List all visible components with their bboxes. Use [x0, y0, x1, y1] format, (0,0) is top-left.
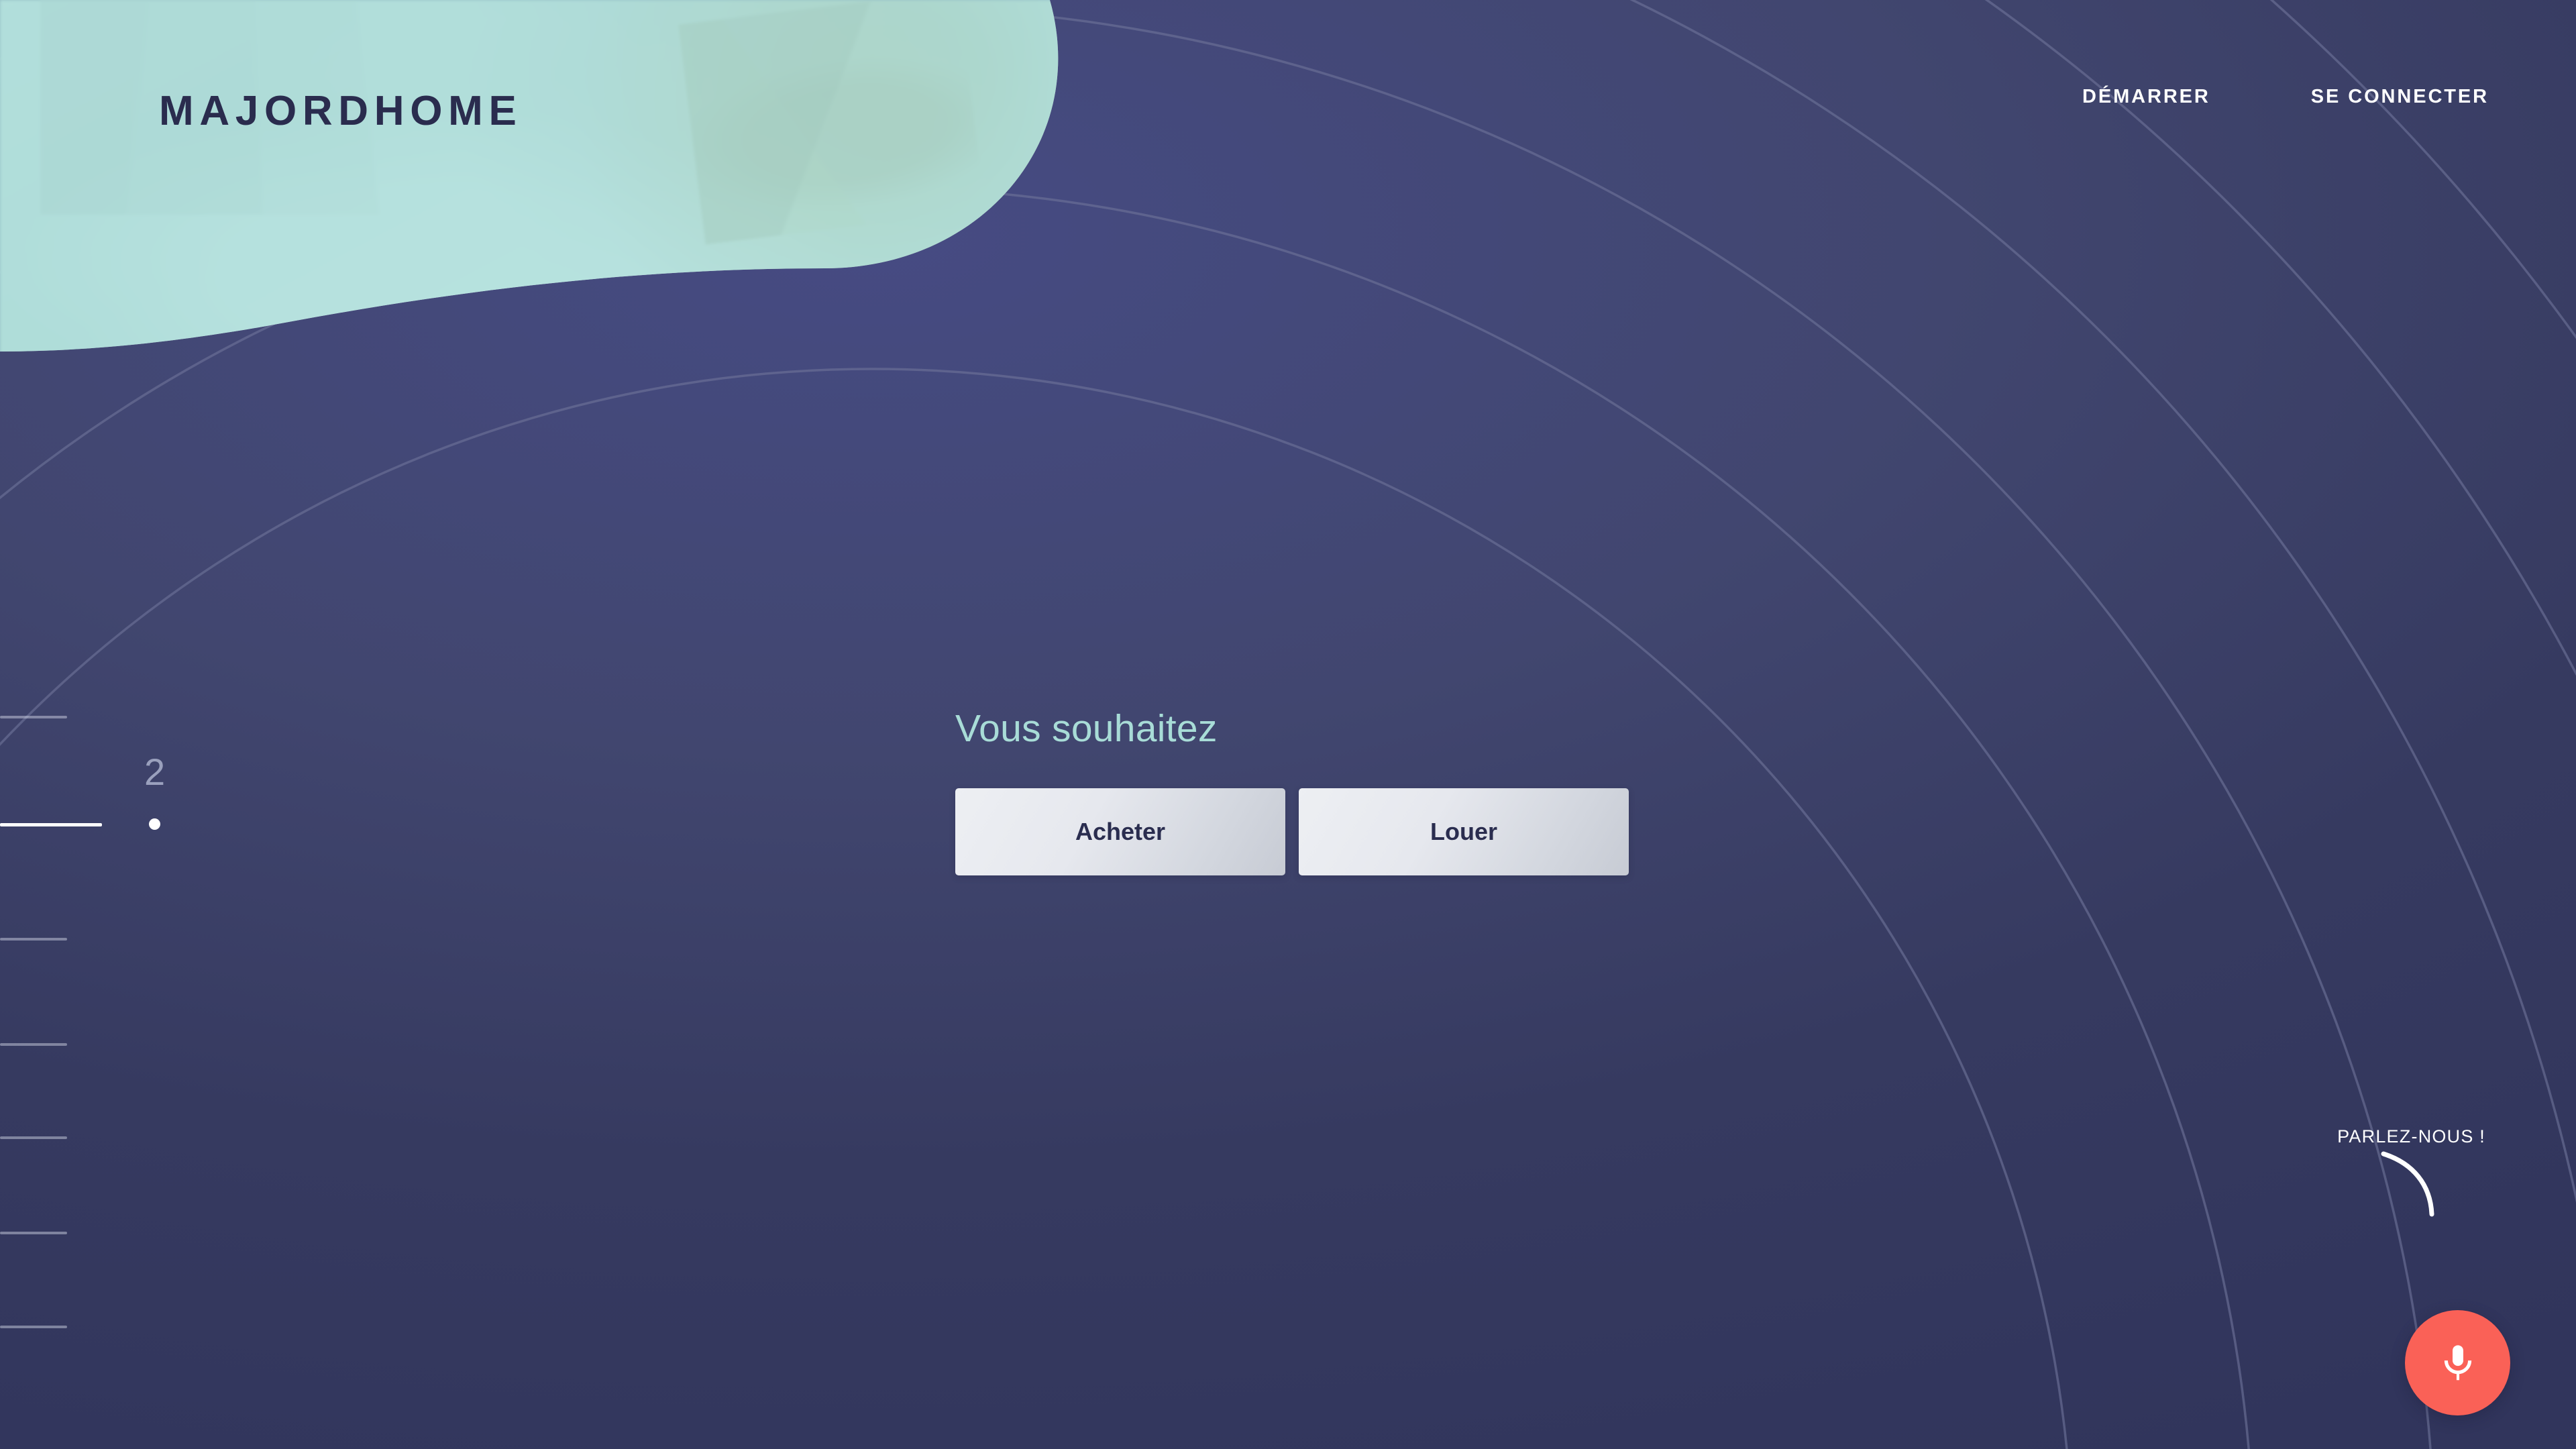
voice-assistant-widget: PARLEZ-NOUS ! [2106, 1087, 2576, 1449]
microphone-button[interactable] [2405, 1310, 2510, 1415]
nav-item-se-connecter[interactable]: SE CONNECTER [2311, 86, 2489, 108]
rail-tick[interactable] [0, 938, 67, 941]
rail-tick[interactable] [0, 716, 67, 718]
rail-tick[interactable] [0, 1232, 67, 1234]
answer-options-row: Acheter Louer [955, 788, 1693, 875]
rail-tick[interactable] [0, 1043, 67, 1046]
current-step-dot [149, 818, 160, 830]
microphone-icon [2436, 1341, 2480, 1385]
rail-tick[interactable] [0, 1136, 67, 1139]
question-label: Vous souhaitez [955, 708, 1693, 750]
answer-option-acheter[interactable]: Acheter [955, 788, 1285, 875]
step-progress-rail: 2 [0, 0, 282, 1449]
current-step-number: 2 [144, 753, 165, 791]
rail-tick-active[interactable] [0, 823, 102, 826]
main-navigation: DÉMARRER SE CONNECTER [2082, 86, 2489, 108]
answer-option-louer[interactable]: Louer [1299, 788, 1629, 875]
nav-item-demarrer[interactable]: DÉMARRER [2082, 86, 2210, 108]
question-panel: Vous souhaitez Acheter Louer [955, 708, 1693, 875]
voice-prompt-label: PARLEZ-NOUS ! [2337, 1126, 2485, 1147]
curved-arrow-icon [2378, 1147, 2452, 1221]
rail-tick[interactable] [0, 1326, 67, 1328]
